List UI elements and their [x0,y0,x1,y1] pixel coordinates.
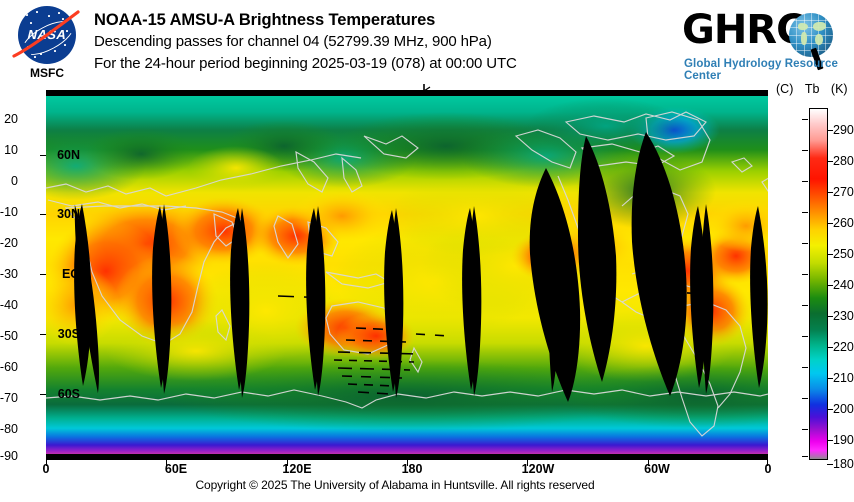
colorbar-header: (C) Tb (K) [776,82,854,96]
colorbar-gradient [810,109,827,459]
colorbar-unit-kelvin: (K) [831,82,848,96]
colorbar-variable: Tb [805,82,820,96]
colorbar-c--10: -10 [0,205,18,219]
ytick-mark-30n [40,214,46,215]
colorbar[interactable] [809,108,828,460]
xtick-label-120w: 120W [508,462,568,476]
colorbar-k-220: 220 [833,340,854,354]
xtick-mark-0e [46,460,47,466]
colorbar-c--40: -40 [0,298,18,312]
subtitle-period: For the 24-hour period beginning 2025-03… [94,53,694,75]
colorbar-c-10: 10 [4,143,18,157]
nasa-center-label: MSFC [12,66,82,80]
subtitle-channel: Descending passes for channel 04 (52799.… [94,31,694,53]
colorbar-k-190: 190 [833,433,854,447]
colorbar-c-0: 0 [11,174,18,188]
xtick-label-180: 180 [392,462,432,476]
colorbar-k-290: 290 [833,123,854,137]
colorbar-k-180: 180 [833,457,854,471]
ghrc-wordmark: GHRC [682,8,804,52]
xtick-label-60e: 60E [151,462,201,476]
xtick-label-360: 0 [753,462,783,476]
temperature-raster [46,96,768,454]
colorbar-k-230: 230 [833,309,854,323]
ytick-mark-30s [40,334,46,335]
colorbar-c-20: 20 [4,112,18,126]
colorbar-c--70: -70 [0,391,18,405]
ghrc-subtitle: Global Hydrology Resource Center [684,58,848,82]
colorbar-k-200: 200 [833,402,854,416]
copyright-notice: Copyright © 2025 The University of Alaba… [0,478,790,492]
ytick-mark-60n [40,155,46,156]
colorbar-unit-celsius: (C) [776,82,793,96]
xtick-mark-60w [648,460,649,466]
colorbar-k-250: 250 [833,247,854,261]
ytick-mark-60s [40,394,46,395]
brightness-temperature-map[interactable] [46,96,768,454]
xtick-mark-60e [166,460,167,466]
ytick-label-30s: 30S [58,327,80,341]
nasa-logo: NASA MSFC [12,6,82,84]
xtick-label-60w: 60W [632,462,682,476]
map-top-marker-icon [414,84,460,96]
ytick-label-60s: 60S [58,387,80,401]
nasa-swoosh-icon [10,8,84,62]
xtick-mark-120e [287,460,288,466]
xtick-mark-180 [407,460,408,466]
colorbar-k-240: 240 [833,278,854,292]
ytick-label-30n: 30N [57,207,80,221]
page-title: NOAA-15 AMSU-A Brightness Temperatures [94,10,694,31]
colorbar-c--60: -60 [0,360,18,374]
colorbar-c--20: -20 [0,236,18,250]
ytick-label-eq: EQ [62,267,80,281]
colorbar-c--50: -50 [0,329,18,343]
colorbar-k-270: 270 [833,185,854,199]
ytick-mark-eq [40,274,46,275]
colorbar-k-260: 260 [833,216,854,230]
title-block: NOAA-15 AMSU-A Brightness Temperatures D… [94,10,694,75]
colorbar-k-210: 210 [833,371,854,385]
xtick-mark-120w [527,460,528,466]
xtick-label-120e: 120E [267,462,327,476]
colorbar-c--80: -80 [0,422,18,436]
map-plot-frame [46,90,768,460]
ytick-label-60n: 60N [57,148,80,162]
xtick-mark-360 [767,460,768,466]
colorbar-k-280: 280 [833,154,854,168]
colorbar-c--30: -30 [0,267,18,281]
ghrc-logo: GHRC Global Hydrology Resource Center [682,8,848,78]
colorbar-c--90: -90 [0,449,18,463]
